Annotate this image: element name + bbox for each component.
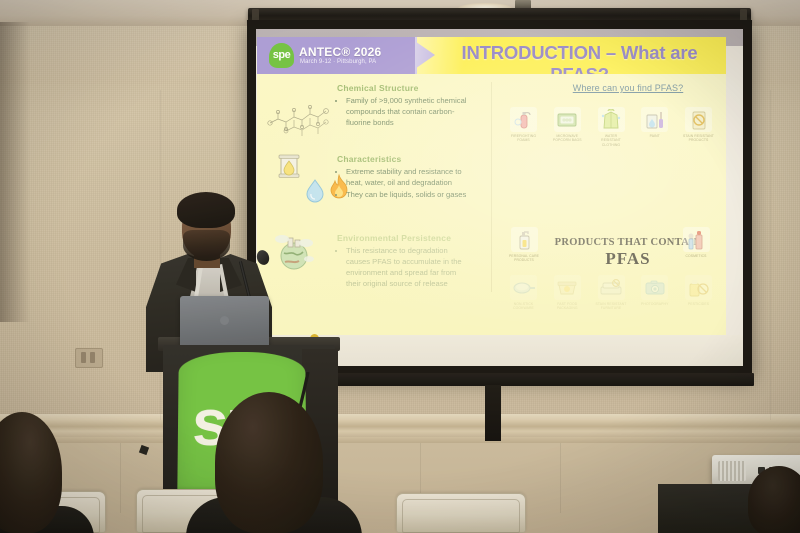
presenter-hair xyxy=(177,192,235,228)
slide-header-band: spe ANTEC® 2026 March 9-12 · Pittsburgh,… xyxy=(257,37,726,74)
icon-caption: STAIN RESISTANT PRODUCTS xyxy=(682,134,715,143)
icon-pesticides: PESTICIDES xyxy=(682,275,715,311)
frying-pan-icon xyxy=(510,275,537,300)
spe-logo-text: spe xyxy=(273,50,290,61)
icon-photography: PHOTOGRAPHY xyxy=(638,275,671,311)
wall-seam xyxy=(120,443,121,513)
bullet-item: They can be liquids, solids or gases xyxy=(346,189,477,200)
fire-extinguisher-icon xyxy=(510,107,537,132)
projector-vents xyxy=(718,461,746,481)
soap-dispenser-icon xyxy=(511,227,538,252)
raincoat-icon xyxy=(598,107,625,132)
spe-logo-icon: spe xyxy=(269,43,294,68)
sofa-icon xyxy=(598,275,625,300)
heading-where-find-pfas: Where can you find PFAS? xyxy=(548,83,708,93)
bullets-characteristics: Extreme stability and resistance to heat… xyxy=(337,166,477,201)
bullet-item: This resistance to degradation causes PF… xyxy=(346,245,469,289)
icon-cosmetics: COSMETICS xyxy=(676,227,716,258)
icon-caption: WATER RESISTANT CLOTHING xyxy=(595,134,628,147)
presenter-beard xyxy=(183,230,230,261)
icon-water-resistant-clothing: WATER RESISTANT CLOTHING xyxy=(595,107,628,147)
icon-non-stick-cookware: NON-STICK COOKWARE xyxy=(507,275,540,311)
polluted-earth-icon xyxy=(271,229,311,278)
slide-column-divider xyxy=(491,82,492,292)
icon-caption: PAINT xyxy=(638,134,671,138)
laptop xyxy=(180,296,269,346)
audience-head-right xyxy=(748,466,800,533)
heading-characteristics: Characteristics xyxy=(337,154,401,164)
bullet-item: Family of >9,000 synthetic chemical comp… xyxy=(346,95,477,128)
icon-caption: MICROWAVE POPCORN BAGS xyxy=(551,134,584,143)
icon-stain-resistant-products: STAIN RESISTANT PRODUCTS xyxy=(682,107,715,147)
icon-caption: PESTICIDES xyxy=(682,302,715,306)
antec-event-details: March 9-12 · Pittsburgh, PA xyxy=(300,59,376,65)
icon-paint: PAINT xyxy=(638,107,671,147)
icon-caption: COSMETICS xyxy=(676,254,716,258)
icon-caption: NON-STICK COOKWARE xyxy=(507,302,540,311)
bullets-environmental-persistence: This resistance to degradation causes PF… xyxy=(337,245,469,290)
icon-firefighting-foams: FIREFIGHTING FOAMS xyxy=(507,107,540,147)
conference-room-photo: spe ANTEC® 2026 March 9-12 · Pittsburgh,… xyxy=(0,0,800,533)
icon-caption: FAST FOOD PACKAGING xyxy=(551,302,584,311)
molecule-icon xyxy=(266,89,336,137)
icon-caption: PHOTOGRAPHY xyxy=(638,302,671,306)
bullet-item: Extreme stability and resistance to heat… xyxy=(346,166,477,188)
top-icon-row: FIREFIGHTING FOAMS MICROWAVE POPCORN BAG… xyxy=(507,107,715,147)
icon-caption: FIREFIGHTING FOAMS xyxy=(507,134,540,143)
stain-resistant-icon xyxy=(685,107,712,132)
icon-personal-care-products: PERSONAL CARE PRODUCTS xyxy=(504,227,544,263)
icon-stain-resistant-furniture: STAIN RESISTANT FURNITURE xyxy=(595,275,628,311)
camera-icon xyxy=(641,275,668,300)
wall-panel-seam xyxy=(770,90,771,420)
popcorn-bag-icon xyxy=(554,107,581,132)
paint-can-icon xyxy=(641,107,668,132)
icon-fast-food-packaging: FAST FOOD PACKAGING xyxy=(551,275,584,311)
icon-popcorn-bags: MICROWAVE POPCORN BAGS xyxy=(551,107,584,147)
heading-environmental-persistence: Environmental Persistence xyxy=(337,233,451,243)
screen-pull-tab xyxy=(485,385,501,441)
audience-head-center xyxy=(215,392,323,533)
heading-chemical-structure: Chemical Structure xyxy=(337,83,419,93)
bottom-icon-row: NON-STICK COOKWARE FAST FOOD PACKAGING xyxy=(507,275,715,311)
food-packaging-icon xyxy=(554,275,581,300)
chair-right xyxy=(396,493,526,533)
screen-frame: spe ANTEC® 2026 March 9-12 · Pittsburgh,… xyxy=(247,20,752,375)
icon-caption: PERSONAL CARE PRODUCTS xyxy=(504,254,544,263)
icon-caption: STAIN RESISTANT FURNITURE xyxy=(595,302,628,311)
projected-slide: spe ANTEC® 2026 March 9-12 · Pittsburgh,… xyxy=(257,37,726,335)
antec-event-name: ANTEC® 2026 xyxy=(299,45,381,59)
wall-seam xyxy=(560,443,561,513)
wall-outlet xyxy=(75,348,103,368)
bullets-chemical-structure: Family of >9,000 synthetic chemical comp… xyxy=(337,95,477,129)
lipstick-icon xyxy=(683,227,710,252)
pesticide-icon xyxy=(685,275,712,300)
left-wall-shadow xyxy=(0,22,30,322)
